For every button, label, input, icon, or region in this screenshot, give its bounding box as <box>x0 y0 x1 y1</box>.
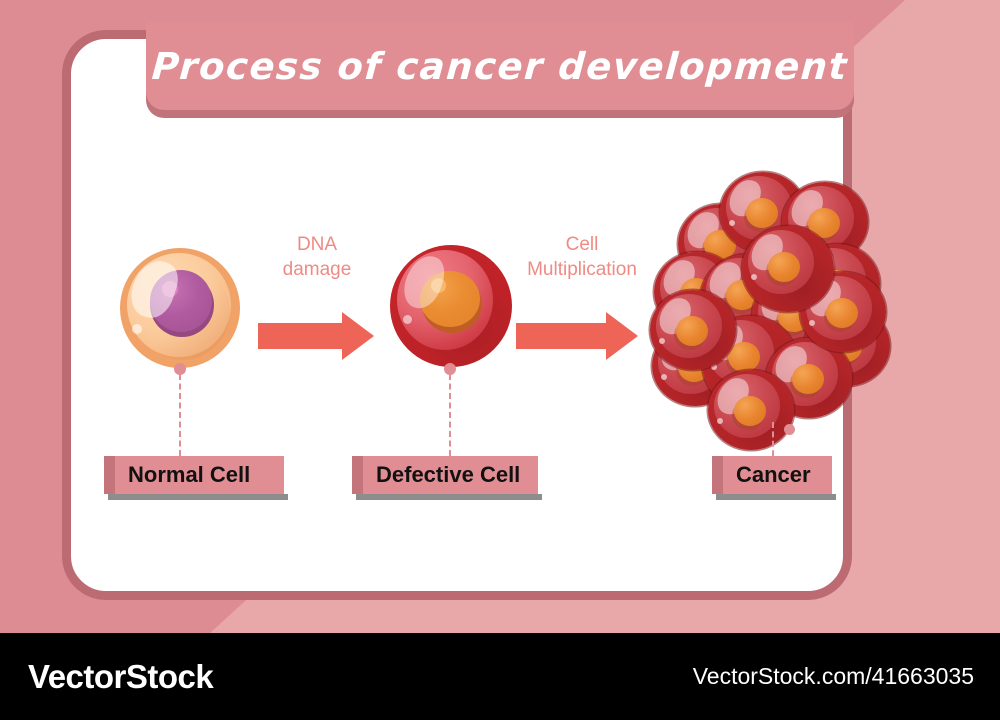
label-box-normal-cell: Normal Cell <box>104 456 284 494</box>
cancer-cell-highlight-dot <box>809 320 815 326</box>
cancer-cell-highlight-dot <box>751 274 757 280</box>
page-title: Process of cancer development <box>151 45 850 88</box>
defective-cell-highlight-dot <box>403 315 412 324</box>
cancer-cell-nucleus <box>826 298 858 328</box>
arrow-head <box>342 312 374 360</box>
normal-cell-highlight-dot <box>132 324 142 334</box>
cancer-cell <box>742 226 834 312</box>
arrow-shaft <box>516 323 608 349</box>
cancer-cell-nucleus <box>676 316 708 346</box>
cancer-cell-highlight-dot <box>661 374 667 380</box>
arrow-head <box>606 312 638 360</box>
arrow-cell-multiplication <box>516 312 638 360</box>
cancer-cell-nucleus <box>792 364 824 394</box>
cancer-cell-highlight-dot <box>729 220 735 226</box>
poster-canvas: DNA damage Cell Multiplication <box>0 0 1000 633</box>
cancer-cell-nucleus <box>746 198 778 228</box>
transition-label-cell-multiplication: Cell Multiplication <box>502 232 662 282</box>
diagram-stage: DNA damage Cell Multiplication <box>62 30 852 600</box>
cancer-cell <box>708 370 794 450</box>
label-text-cancer: Cancer <box>712 462 827 488</box>
cancer-cluster-connector-dot <box>784 424 795 435</box>
cancer-cell-highlight-dot <box>717 418 723 424</box>
arrow-dna-damage <box>258 312 374 360</box>
cancer-cell <box>650 290 736 370</box>
footer-bar: VectorStock VectorStock.com/41663035 <box>0 633 1000 720</box>
arrow-shaft <box>258 323 344 349</box>
transition-label-dna-damage: DNA damage <box>252 232 382 282</box>
vectorstock-logo: VectorStock <box>0 658 213 696</box>
label-box-cancer: Cancer <box>712 456 832 494</box>
vectorstock-url: VectorStock.com/41663035 <box>693 663 1000 690</box>
defective-cell-illustration <box>390 245 512 367</box>
label-box-shadow <box>108 494 288 500</box>
label-text-defective-cell: Defective Cell <box>352 462 536 488</box>
label-box-shadow <box>716 494 836 500</box>
label-box-defective-cell: Defective Cell <box>352 456 538 494</box>
label-box-shadow <box>356 494 542 500</box>
cancer-cell-nucleus <box>728 342 760 372</box>
cancer-cell-highlight-dot <box>659 338 665 344</box>
normal-cell-illustration <box>120 248 240 368</box>
cancer-cell-nucleus <box>768 252 800 282</box>
title-banner: Process of cancer development <box>146 22 854 110</box>
label-text-normal-cell: Normal Cell <box>104 462 266 488</box>
cancer-cell-nucleus <box>734 396 766 426</box>
cancer-cluster-illustration <box>642 160 872 430</box>
